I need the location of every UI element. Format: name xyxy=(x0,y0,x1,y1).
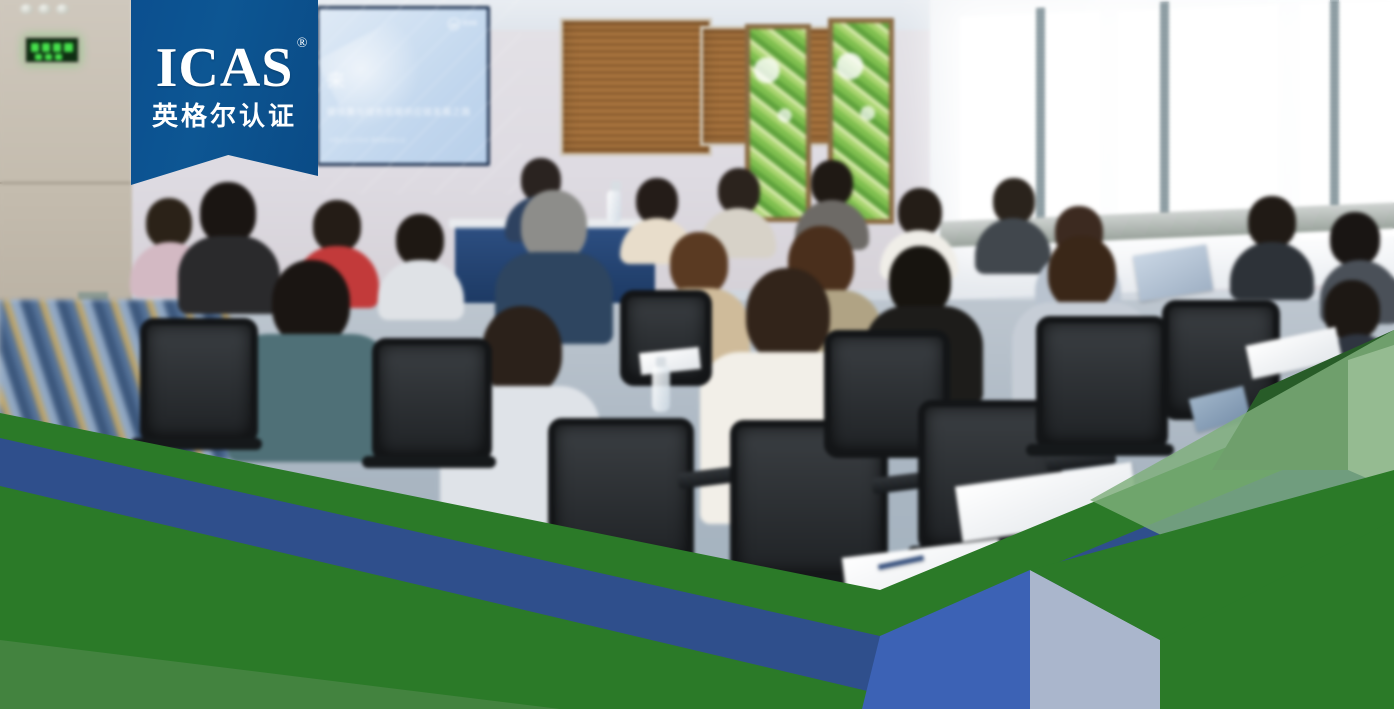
ceiling-lamp xyxy=(20,4,33,14)
slide-title: 来 xyxy=(327,67,346,93)
attendee xyxy=(1318,280,1394,460)
seminar-chair xyxy=(1036,316,1168,450)
attendee xyxy=(1230,196,1314,296)
window-mullion xyxy=(1330,0,1339,218)
slide-footnote: 中国认证认可协会 碳管理体系认证 xyxy=(329,137,406,145)
slide-logo: ICAS xyxy=(448,18,477,30)
water-bottle xyxy=(607,190,621,224)
slide-logo-text: ICAS xyxy=(463,21,477,27)
ceiling-lamp xyxy=(38,4,51,14)
projection-screen: ICAS 来 碳核算与绿色低碳供应链发展之路 中国认证认可协会 碳管理体系认证 xyxy=(316,6,490,166)
ceiling-lamp xyxy=(56,4,69,14)
slide-subtitle: 碳核算与绿色低碳供应链发展之路 xyxy=(327,105,481,118)
icas-text: ICAS xyxy=(156,37,294,99)
slide-logo-ring xyxy=(448,18,460,30)
registered-trademark-icon: ® xyxy=(297,36,308,52)
exit-sign xyxy=(24,36,80,64)
seminar-chair xyxy=(372,338,492,462)
wall-seam xyxy=(0,182,132,184)
window-mullion xyxy=(1160,2,1169,216)
tablet-device xyxy=(1133,244,1213,301)
icas-chinese-name: 英格尔认证 xyxy=(152,104,297,130)
icas-wordmark: ICAS ® xyxy=(156,40,294,96)
banner-canvas: ICAS 来 碳核算与绿色低碳供应链发展之路 中国认证认可协会 碳管理体系认证 xyxy=(0,0,1394,709)
seminar-chair xyxy=(140,318,258,444)
water-bottle xyxy=(652,366,670,412)
window-blinds xyxy=(560,18,712,156)
seminar-chair xyxy=(548,418,694,568)
